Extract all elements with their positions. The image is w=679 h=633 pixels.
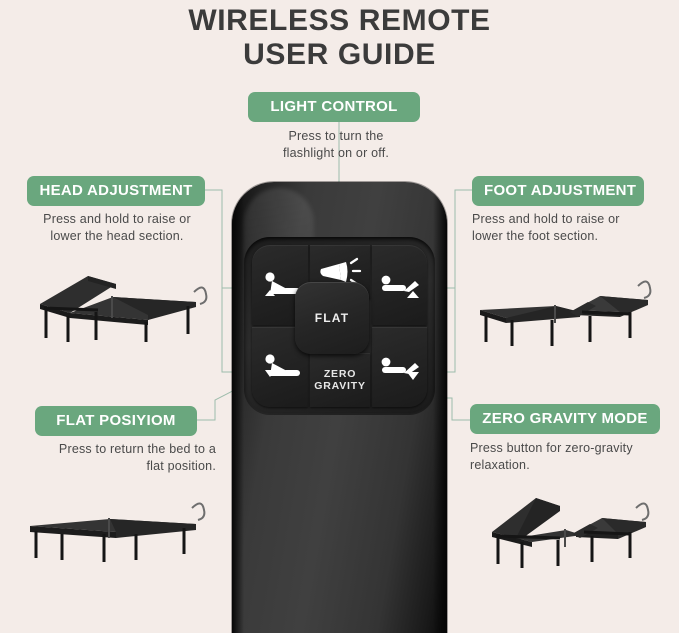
bed-illustration-foot-raised <box>470 262 670 348</box>
page-title: WIRELESS REMOTE USER GUIDE <box>0 2 679 72</box>
foot-raise-icon <box>377 268 423 302</box>
zero-gravity-label: ZERO GRAVITY <box>314 368 366 392</box>
zero-gravity-label-line2: GRAVITY <box>314 380 366 392</box>
user-guide-page: WIRELESS REMOTE USER GUIDE <box>0 0 679 633</box>
callout-desc-head-adjustment: Press and hold to raise or lower the hea… <box>25 211 209 245</box>
callout-badge-foot-adjustment[interactable]: FOOT ADJUSTMENT <box>472 176 644 206</box>
bed-illustration-head-raised <box>18 258 218 344</box>
callout-badge-head-adjustment[interactable]: HEAD ADJUSTMENT <box>27 176 205 206</box>
button-foot-raise[interactable] <box>372 245 427 325</box>
flat-label: FLAT <box>315 311 350 325</box>
button-pad: ZERO GRAVITY FLAT <box>244 237 435 415</box>
callout-badge-zero-gravity[interactable]: ZERO GRAVITY MODE <box>470 404 660 434</box>
callout-desc-foot-adjustment: Press and hold to raise or lower the foo… <box>472 211 662 245</box>
page-title-line2: USER GUIDE <box>0 38 679 72</box>
bed-illustration-flat <box>18 486 218 566</box>
callout-badge-light-control[interactable]: LIGHT CONTROL <box>248 92 420 122</box>
callout-badge-flat-position[interactable]: FLAT POSIYIOM <box>35 406 197 436</box>
callout-desc-flat-position: Press to return the bed to a flat positi… <box>22 441 216 475</box>
zero-gravity-label-line1: ZERO <box>324 368 356 380</box>
bed-illustration-zero-gravity <box>470 478 670 570</box>
head-lower-icon <box>257 350 303 384</box>
callout-desc-light-control: Press to turn the flashlight on or off. <box>248 128 424 162</box>
remote-left-edge <box>232 182 244 633</box>
foot-lower-icon <box>377 350 423 384</box>
button-flat[interactable]: FLAT <box>295 282 369 354</box>
callout-desc-zero-gravity: Press button for zero-gravity relaxation… <box>470 440 666 474</box>
remote-right-edge <box>433 182 447 633</box>
page-title-line1: WIRELESS REMOTE <box>0 4 679 38</box>
button-zero-gravity[interactable]: ZERO GRAVITY <box>310 353 370 407</box>
button-foot-lower[interactable] <box>372 327 427 407</box>
remote-control: ZERO GRAVITY FLAT <box>232 182 447 633</box>
